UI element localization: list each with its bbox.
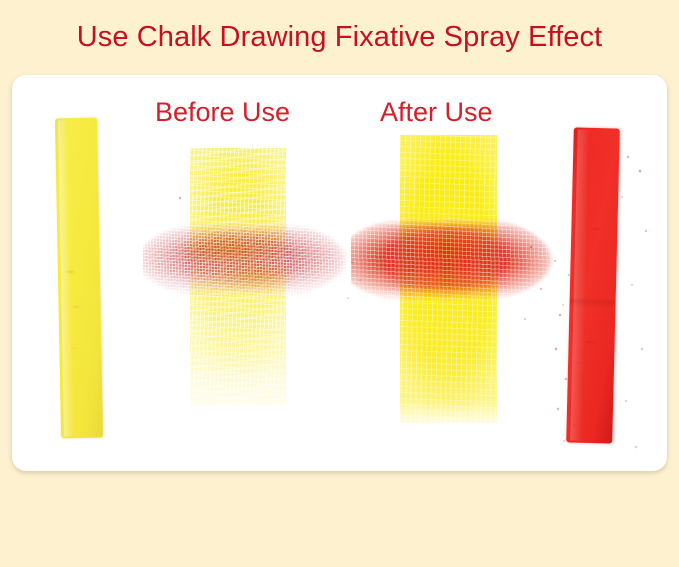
top-cropped-text-sliver: · · · · ·: [0, 0, 679, 7]
yellow-chalk-stick: [55, 118, 103, 439]
page-title: Use Chalk Drawing Fixative Spray Effect: [0, 18, 679, 56]
after-pigment-overlap: [400, 223, 496, 297]
before-stray-speck: [172, 190, 192, 210]
comparison-photo-card: Before Use After Use: [12, 75, 667, 471]
before-pigment-smear: [172, 227, 312, 293]
red-chalk-stick: [566, 127, 620, 443]
red-chalk-dust-right: [616, 135, 656, 465]
sample-label-after: After Use: [380, 96, 493, 128]
sample-label-before: Before Use: [155, 96, 290, 128]
top-cropped-text: · · · · ·: [188, 0, 257, 4]
